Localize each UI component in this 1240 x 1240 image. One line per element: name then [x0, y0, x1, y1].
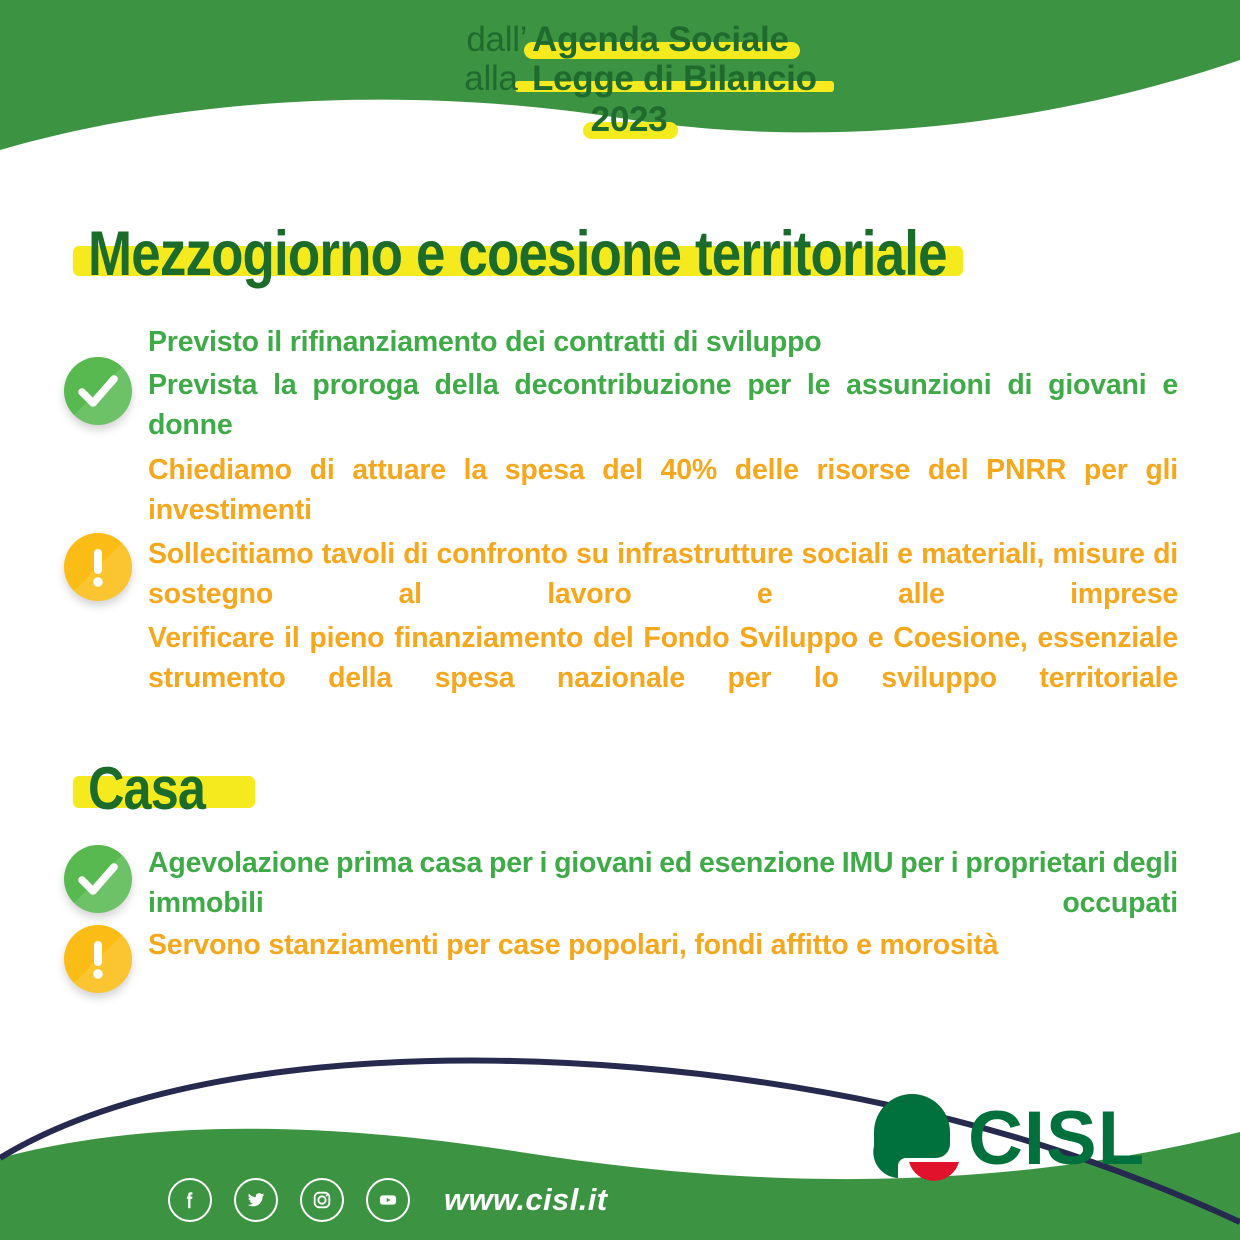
list-item: Sollecitiamo tavoli di confronto su infr… [148, 534, 1178, 655]
list-item: Agevolazione prima casa per i giovani ed… [148, 843, 1178, 964]
section-heading-text: Casa [88, 755, 205, 822]
social-links-bar: www.cisl.it [168, 1178, 607, 1222]
instagram-icon[interactable] [300, 1178, 344, 1222]
section-heading-casa: Casa [88, 754, 205, 823]
check-mark-glyph [64, 357, 132, 425]
title-line-3: 2023 [0, 102, 1240, 137]
exclamation-glyph [64, 925, 132, 993]
list-item: Prevista la proroga della decontribuzion… [148, 365, 1178, 486]
facebook-icon[interactable] [168, 1178, 212, 1222]
cisl-wordmark: CISL [968, 1101, 1145, 1177]
title-line-1: dall’Agenda Sociale [0, 22, 1240, 57]
cisl-mark-icon [862, 1092, 972, 1187]
warning-circle-icon [64, 925, 132, 993]
check-mark-glyph [64, 845, 132, 913]
title-line-1-prefix: dall’ [466, 20, 527, 59]
title-line-2-strong-text: Legge di Bilancio [532, 59, 817, 98]
title-line-2-highlight: Legge di Bilancio [527, 61, 822, 96]
title-line-3-highlight: 2023 [586, 102, 673, 137]
cisl-logo: CISL [862, 1092, 1112, 1187]
poster-canvas: dall’Agenda Sociale alla Legge di Bilanc… [0, 0, 1240, 1240]
content-area: Previsto il rifinanziamento dei contratt… [0, 0, 1240, 1240]
website-url[interactable]: www.cisl.it [444, 1182, 607, 1218]
section-heading-mezzogiorno: Mezzogiorno e coesione territoriale [88, 218, 947, 290]
check-circle-icon [64, 357, 132, 425]
poster-title: dall’Agenda Sociale alla Legge di Bilanc… [0, 22, 1240, 137]
section-heading-text: Mezzogiorno e coesione territoriale [88, 219, 947, 289]
list-item: Servono stanziamenti per case popolari, … [148, 925, 1178, 965]
title-line-2: alla Legge di Bilancio [0, 61, 1240, 96]
check-circle-icon [64, 845, 132, 913]
youtube-icon[interactable] [366, 1178, 410, 1222]
list-item: Previsto il rifinanziamento dei contratt… [148, 322, 1178, 362]
title-year-text: 2023 [591, 100, 668, 139]
warning-circle-icon [64, 533, 132, 601]
twitter-icon[interactable] [234, 1178, 278, 1222]
exclamation-glyph [64, 533, 132, 601]
title-line-1-highlight: Agenda Sociale [527, 22, 793, 57]
list-item: Chiediamo di attuare la spesa del 40% de… [148, 450, 1178, 571]
title-line-1-strong-text: Agenda Sociale [532, 20, 788, 59]
title-line-2-prefix: alla [464, 59, 517, 98]
list-item: Verificare il pieno finanziamento del Fo… [148, 618, 1178, 739]
